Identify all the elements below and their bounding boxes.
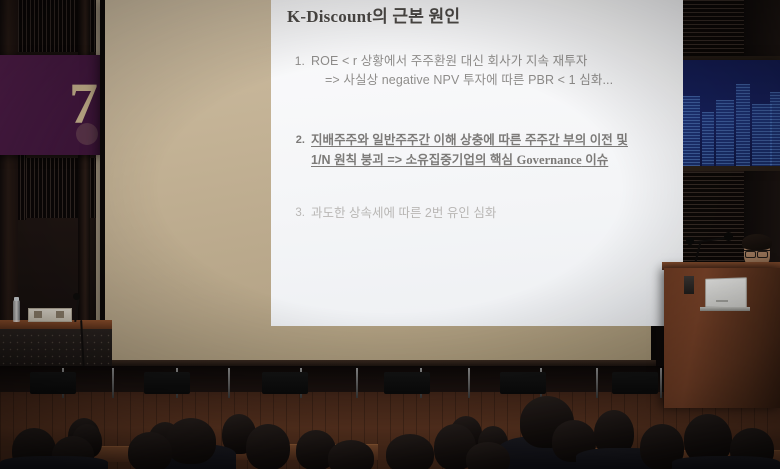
chair-leg bbox=[112, 368, 114, 398]
chair-back bbox=[384, 372, 430, 394]
banner-dot-decor bbox=[76, 123, 98, 145]
skyline-building bbox=[752, 104, 772, 166]
laptop-base bbox=[700, 307, 750, 311]
bullet-2-line-2a: 1/N 원칙 붕괴 => 소유집중기업의 핵심 bbox=[311, 153, 517, 167]
bullet-1-line-2: => 사실상 negative NPV 투자에 따른 PBR < 1 심화... bbox=[325, 71, 683, 90]
bullet-3-line-1: 과도한 상속세에 따른 2번 유인 심화 bbox=[311, 204, 683, 223]
water-bottle bbox=[13, 300, 20, 322]
microphone-receiver-box bbox=[684, 276, 694, 294]
audience-shoulders bbox=[672, 456, 780, 469]
bullet-number: 1. bbox=[283, 52, 305, 71]
bullet-item-2: 2. 지배주주와 일반주주간 이해 상충에 따른 주주간 부의 이전 및 1/N… bbox=[283, 130, 683, 170]
purple-event-banner: 7 bbox=[0, 55, 100, 155]
projection-screen: K-Discount의 근본 원인 1. ROE < r 상황에서 주주환원 대… bbox=[105, 0, 651, 365]
bullet-item-3: 3. 과도한 상속세에 따른 2번 유인 심화 bbox=[283, 204, 683, 223]
podium-microphone-head-secondary bbox=[686, 237, 694, 245]
audience-head bbox=[166, 418, 216, 464]
bullet-number: 2. bbox=[283, 130, 305, 150]
conference-hall-photo: 7 K-Discount의 근본 원인 1. ROE < r 상황에서 주주환원… bbox=[0, 0, 780, 469]
laptop-brand-logo bbox=[716, 300, 728, 302]
table-microphone-head bbox=[73, 293, 80, 300]
bullet-number: 3. bbox=[283, 204, 305, 223]
audience-head bbox=[466, 442, 510, 469]
presenter-laptop bbox=[705, 277, 747, 309]
skyline-building bbox=[716, 100, 734, 166]
equipment-box-display-left bbox=[34, 311, 42, 318]
bullet-2-governance-term: Governance bbox=[517, 153, 582, 167]
audience-shoulders bbox=[0, 456, 108, 469]
bullet-2-line-2c: 이슈 bbox=[582, 153, 609, 167]
slide-bullet-3-wrap: 3. 과도한 상속세에 따른 2번 유인 심화 bbox=[283, 204, 683, 223]
skyline-building bbox=[702, 112, 714, 166]
side-table-perforated-panel bbox=[0, 332, 112, 366]
chair-leg bbox=[468, 368, 470, 398]
slide-bullet-list: 1. ROE < r 상황에서 주주환원 대신 회사가 지속 재투자 => 사실… bbox=[283, 52, 683, 90]
chair-back bbox=[144, 372, 190, 394]
water-bottle-cap bbox=[14, 297, 19, 301]
chair-back bbox=[262, 372, 308, 394]
bullet-1-line-1: ROE < r 상황에서 주주환원 대신 회사가 지속 재투자 bbox=[311, 54, 587, 68]
chair-leg bbox=[356, 368, 358, 398]
audience-head bbox=[386, 434, 434, 469]
bullet-item-1: 1. ROE < r 상황에서 주주환원 대신 회사가 지속 재투자 => 사실… bbox=[283, 52, 683, 90]
bullet-2-line-1: 지배주주와 일반주주간 이해 상충에 따른 주주간 부의 이전 및 bbox=[311, 133, 628, 147]
chair-back bbox=[500, 372, 546, 394]
speaker-glasses bbox=[744, 250, 770, 255]
skyline-building bbox=[736, 84, 750, 166]
chair-leg bbox=[596, 368, 598, 398]
audience-head bbox=[128, 432, 172, 469]
slide-title: K-Discount의 근본 원인 bbox=[287, 2, 460, 27]
chair-leg bbox=[660, 368, 662, 398]
chair-back bbox=[30, 372, 76, 394]
speaker-hair bbox=[742, 234, 772, 250]
chair-back bbox=[612, 372, 658, 394]
audience-head bbox=[328, 440, 374, 469]
skyline-building bbox=[770, 92, 780, 166]
chair-leg bbox=[228, 368, 230, 398]
slide-bullet-2-wrap: 2. 지배주주와 일반주주간 이해 상충에 따른 주주간 부의 이전 및 1/N… bbox=[283, 130, 683, 170]
audience-head bbox=[246, 424, 290, 469]
podium-microphone-head bbox=[724, 232, 733, 241]
presentation-slide: K-Discount의 근본 원인 1. ROE < r 상황에서 주주환원 대… bbox=[271, 0, 683, 326]
equipment-box-display-right bbox=[56, 311, 64, 318]
